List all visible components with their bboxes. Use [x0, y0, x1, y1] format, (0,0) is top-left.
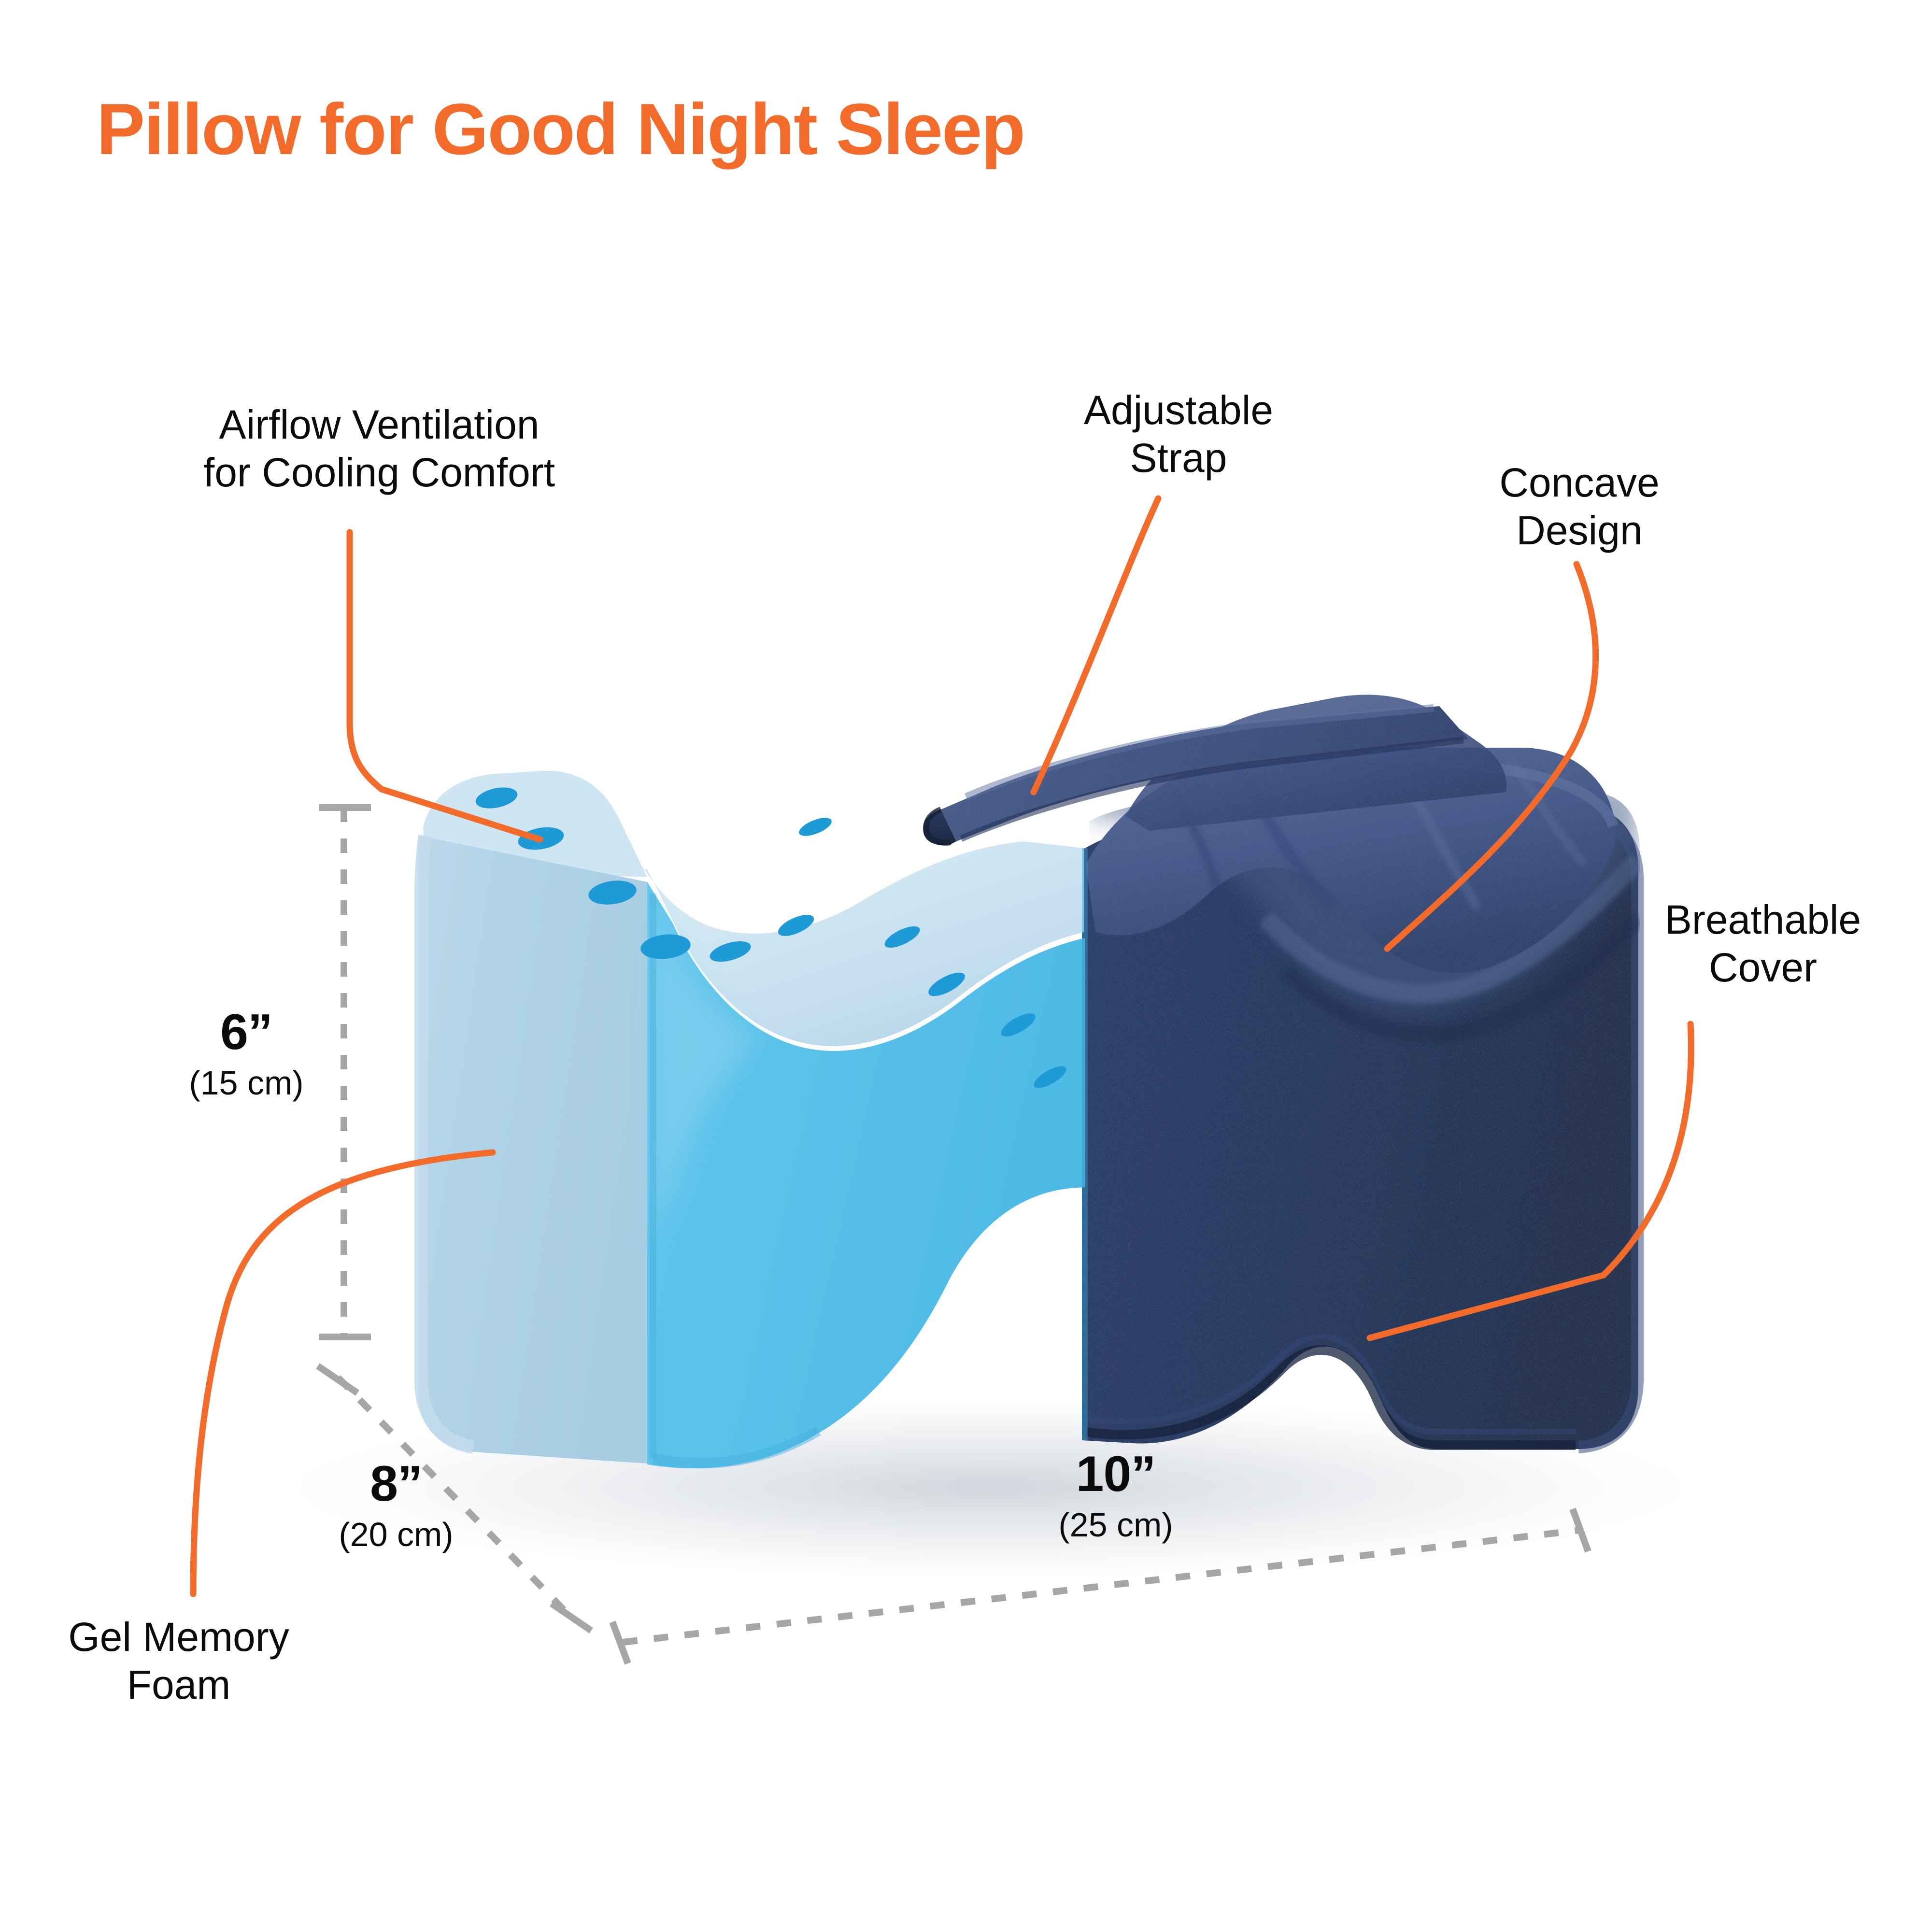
cover-top-ridge — [1125, 695, 1506, 831]
callout-label-gel-memory-foam: Gel Memory Foam — [10, 1613, 348, 1709]
callout-label-adjustable-strap: Adjustable Strap — [1029, 386, 1328, 482]
page-title: Pillow for Good Night Sleep — [97, 93, 1024, 165]
dimension-height-metric: (15 cm) — [169, 1066, 324, 1100]
leader-concave — [1387, 564, 1596, 949]
dimension-width-inches: 10” — [1024, 1449, 1207, 1499]
navy-cover-drape — [1086, 748, 1616, 973]
ventilation-holes — [474, 784, 1069, 1092]
callout-label-breathable-cover: Breathable Cover — [1608, 896, 1918, 992]
dimension-depth-inches: 8” — [309, 1459, 483, 1509]
leader-lines — [193, 498, 1691, 1594]
dimension-width-metric: (25 cm) — [1024, 1508, 1207, 1542]
dimension-lines — [318, 808, 1588, 1663]
dimension-label-height: 6” (15 cm) — [169, 1007, 324, 1100]
leader-airflow — [350, 532, 540, 839]
callout-label-concave-design: Concave Design — [1459, 459, 1700, 554]
dimension-label-width: 10” (25 cm) — [1024, 1449, 1207, 1542]
dimension-label-depth: 8” (20 cm) — [309, 1459, 483, 1551]
gel-memory-foam — [418, 771, 1085, 1468]
ground-shadow — [290, 1396, 1690, 1579]
navy-cover-body — [1082, 807, 1638, 1449]
concave-shading — [1087, 782, 1638, 1035]
leader-strap — [1034, 498, 1158, 792]
infographic-canvas: Pillow for Good Night Sleep Airflow Vent… — [0, 0, 1932, 1932]
callout-label-airflow: Airflow Ventilation for Cooling Comfort — [109, 401, 650, 497]
adjustable-strap — [923, 706, 1468, 845]
leader-breathable — [1370, 1024, 1691, 1338]
dimension-height-inches: 6” — [169, 1007, 324, 1057]
dimension-depth-metric: (20 cm) — [309, 1518, 483, 1551]
